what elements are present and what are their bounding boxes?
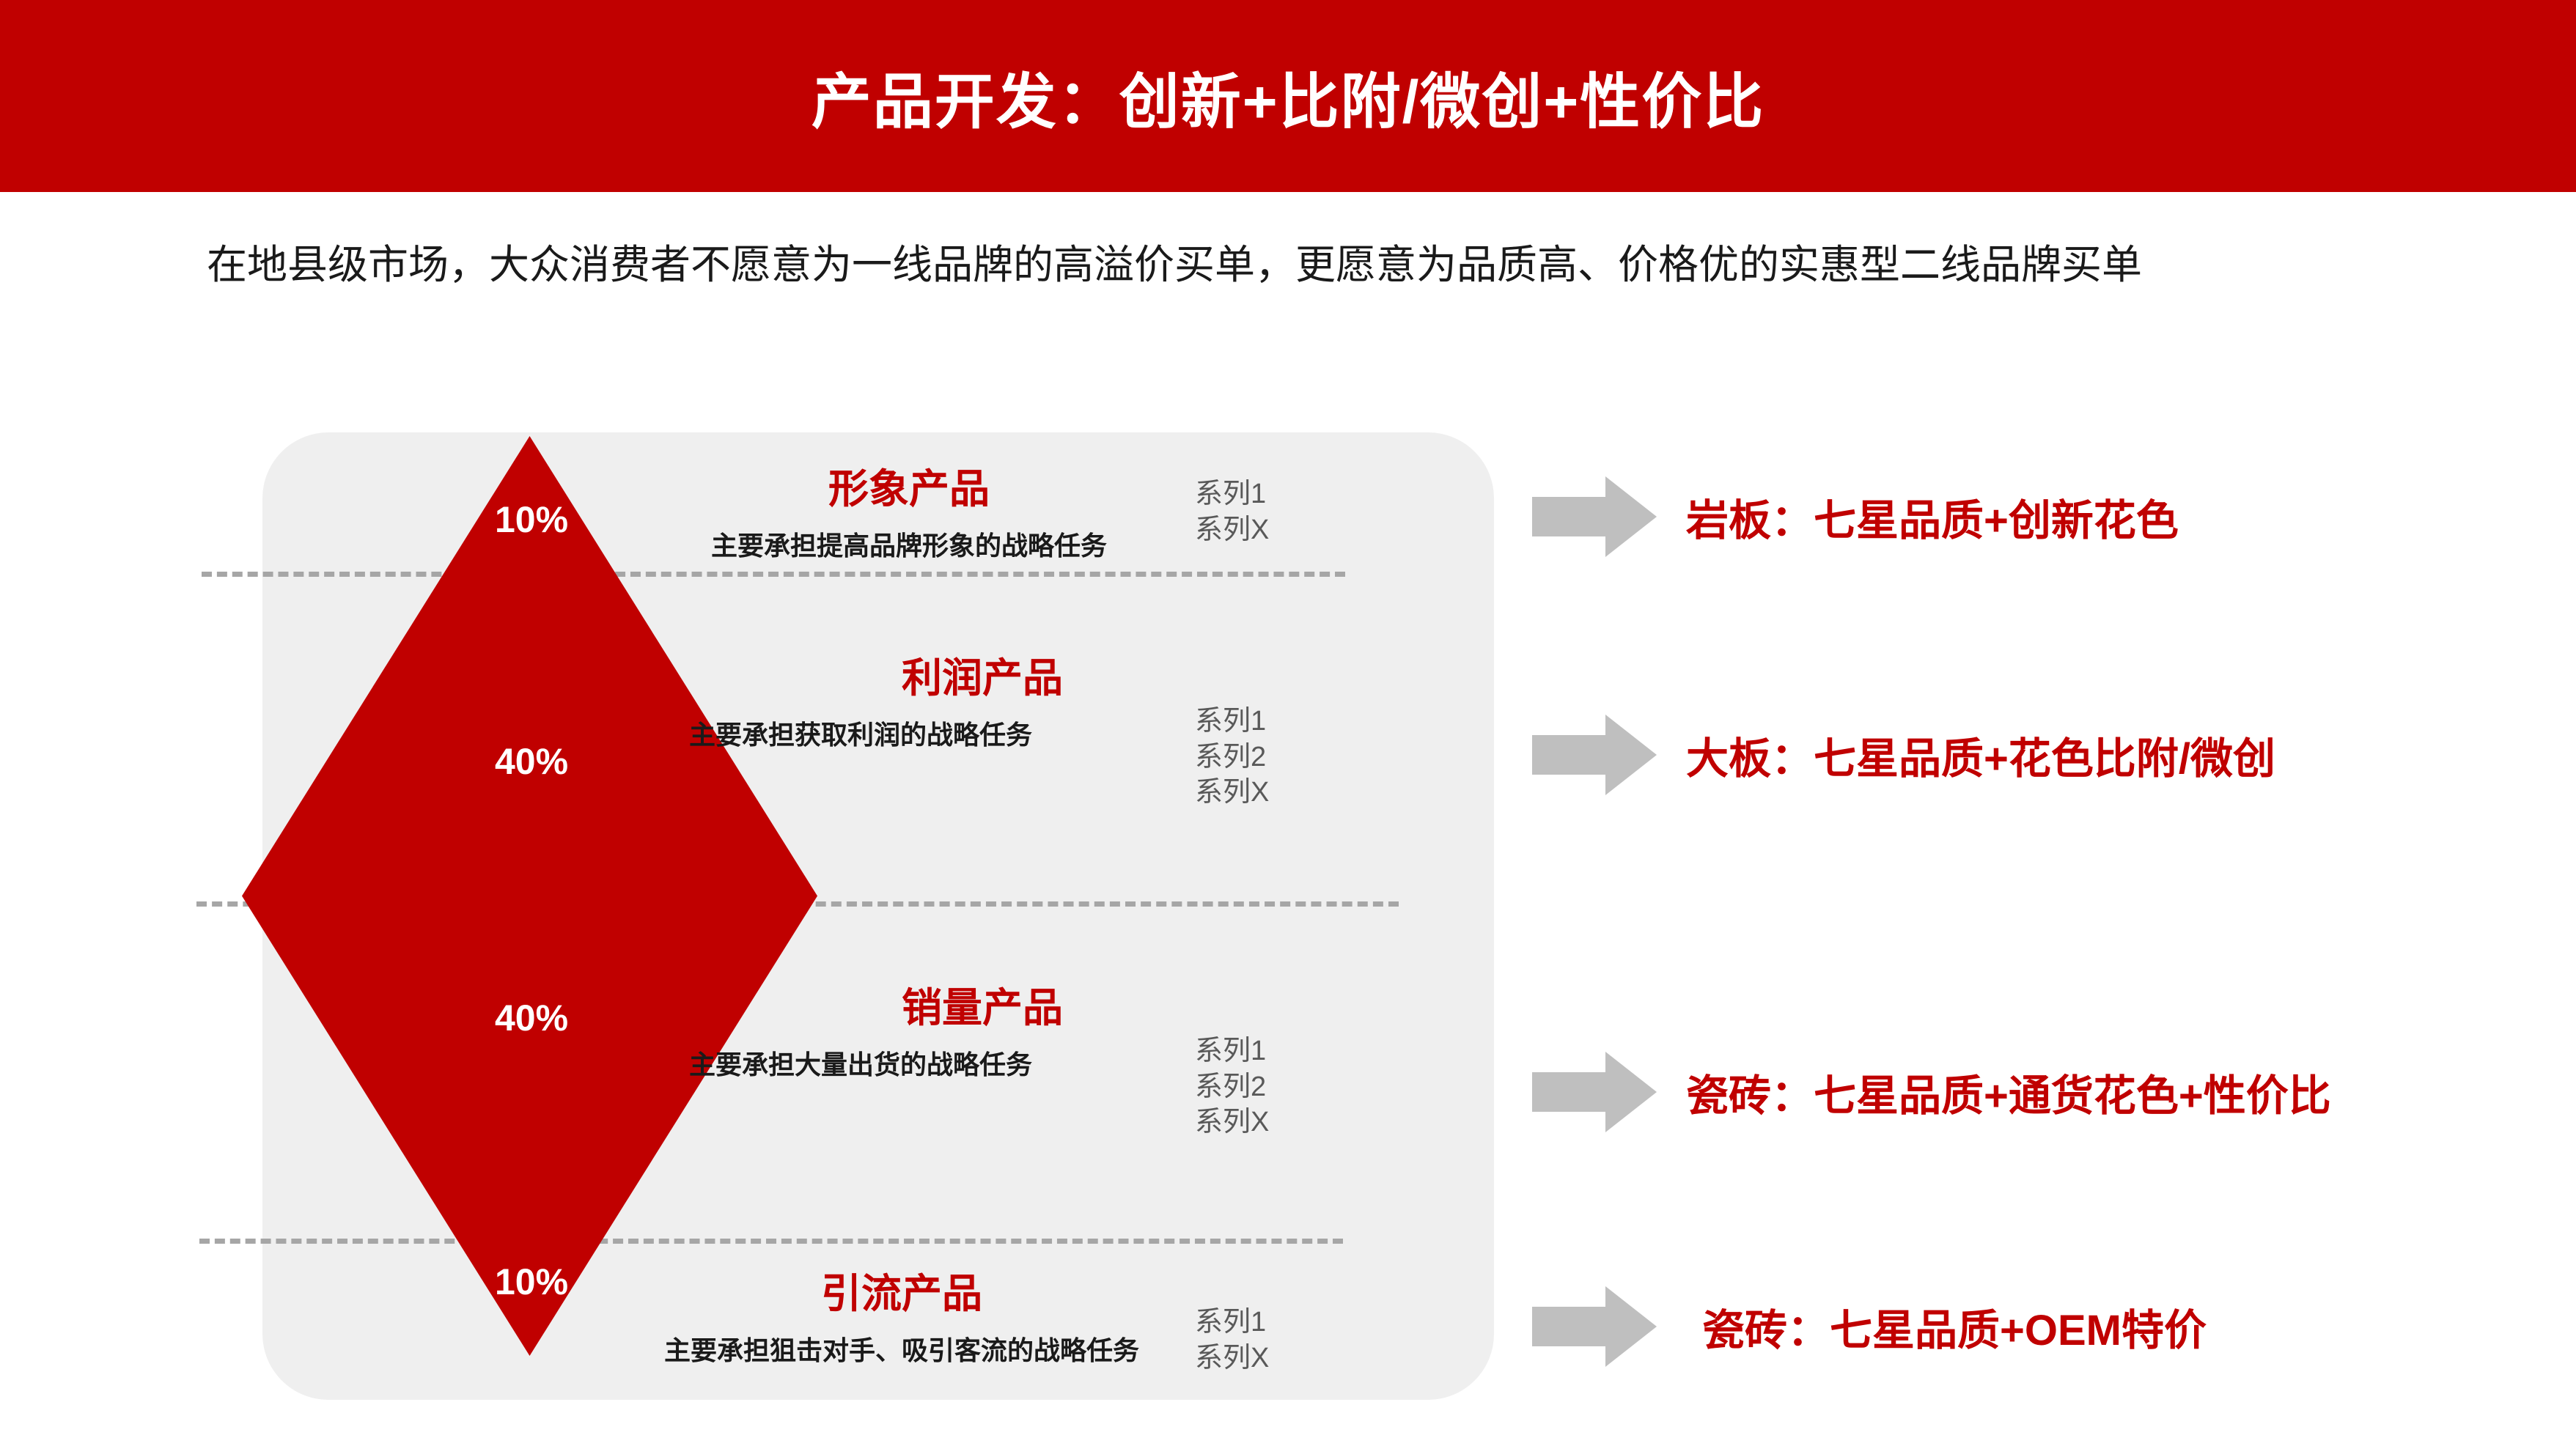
- subhead-paragraph: 在地县级市场，大众消费者不愿意为一线品牌的高溢价买单，更愿意为品质高、价格优的实…: [207, 238, 2311, 292]
- callout-label: 瓷砖：七星品质+OEM特价: [1686, 1296, 2207, 1357]
- series-list-2: 系列1 系列2 系列X: [1195, 704, 1269, 811]
- series-list-3: 系列1 系列2 系列X: [1195, 1033, 1269, 1140]
- slide-title-bar: 产品开发：创新+比附/微创+性价比: [0, 0, 2576, 192]
- segment-description: 主要承担大量出货的战略任务: [689, 1044, 1276, 1082]
- percentage-label-3: 40%: [458, 997, 605, 1039]
- segment-title: 利润产品: [689, 645, 1276, 704]
- segment-block-volume-product: 销量产品 主要承担大量出货的战略任务: [689, 975, 1276, 1082]
- percentage-label-1: 10%: [458, 498, 605, 541]
- segment-block-traffic-product: 引流产品 主要承担狙击对手、吸引客流的战略任务: [557, 1261, 1246, 1368]
- right-column: 岩板：七星品质+创新花色 大板：七星品质+花色比附/微创 瓷砖：七星品质+通货花…: [1532, 432, 2558, 1414]
- series-item: 系列1: [1195, 476, 1269, 512]
- callout-row-4: 瓷砖：七星品质+OEM特价: [1532, 1283, 2207, 1371]
- segment-title: 销量产品: [689, 975, 1276, 1033]
- divider-line-1: [202, 572, 1345, 577]
- segment-description: 主要承担提高品牌形象的战略任务: [645, 525, 1173, 563]
- series-list-1: 系列1 系列X: [1195, 476, 1269, 547]
- arrow-right-icon: [1532, 715, 1657, 795]
- series-item: 系列X: [1195, 512, 1269, 548]
- series-item: 系列2: [1195, 739, 1269, 775]
- callout-row-2: 大板：七星品质+花色比附/微创: [1532, 711, 2275, 799]
- series-item: 系列2: [1195, 1069, 1269, 1105]
- callout-label: 瓷砖：七星品质+通货花色+性价比: [1686, 1061, 2331, 1123]
- series-item: 系列X: [1195, 775, 1269, 811]
- arrow-right-icon: [1532, 1052, 1657, 1132]
- segment-title: 形象产品: [645, 456, 1173, 514]
- page-title: 产品开发：创新+比附/微创+性价比: [812, 53, 1765, 140]
- percentage-label-2: 40%: [458, 740, 605, 783]
- segment-title: 引流产品: [557, 1261, 1246, 1319]
- series-list-4: 系列1 系列X: [1195, 1305, 1269, 1376]
- callout-label: 岩板：七星品质+创新花色: [1686, 486, 2179, 547]
- series-item: 系列X: [1195, 1104, 1269, 1140]
- segment-block-image-product: 形象产品 主要承担提高品牌形象的战略任务: [645, 456, 1173, 563]
- divider-line-3: [199, 1239, 1343, 1244]
- series-item: 系列1: [1195, 704, 1269, 739]
- callout-row-1: 岩板：七星品质+创新花色: [1532, 473, 2179, 561]
- callout-row-3: 瓷砖：七星品质+通货花色+性价比: [1532, 1048, 2331, 1136]
- segment-description: 主要承担获取利润的战略任务: [689, 714, 1276, 752]
- series-item: 系列1: [1195, 1305, 1269, 1340]
- segment-description: 主要承担狙击对手、吸引客流的战略任务: [557, 1329, 1246, 1368]
- series-item: 系列X: [1195, 1340, 1269, 1376]
- callout-label: 大板：七星品质+花色比附/微创: [1686, 724, 2275, 786]
- series-item: 系列1: [1195, 1033, 1269, 1069]
- arrow-right-icon: [1532, 476, 1657, 557]
- arrow-right-icon: [1532, 1286, 1657, 1367]
- segment-block-profit-product: 利润产品 主要承担获取利润的战略任务: [689, 645, 1276, 752]
